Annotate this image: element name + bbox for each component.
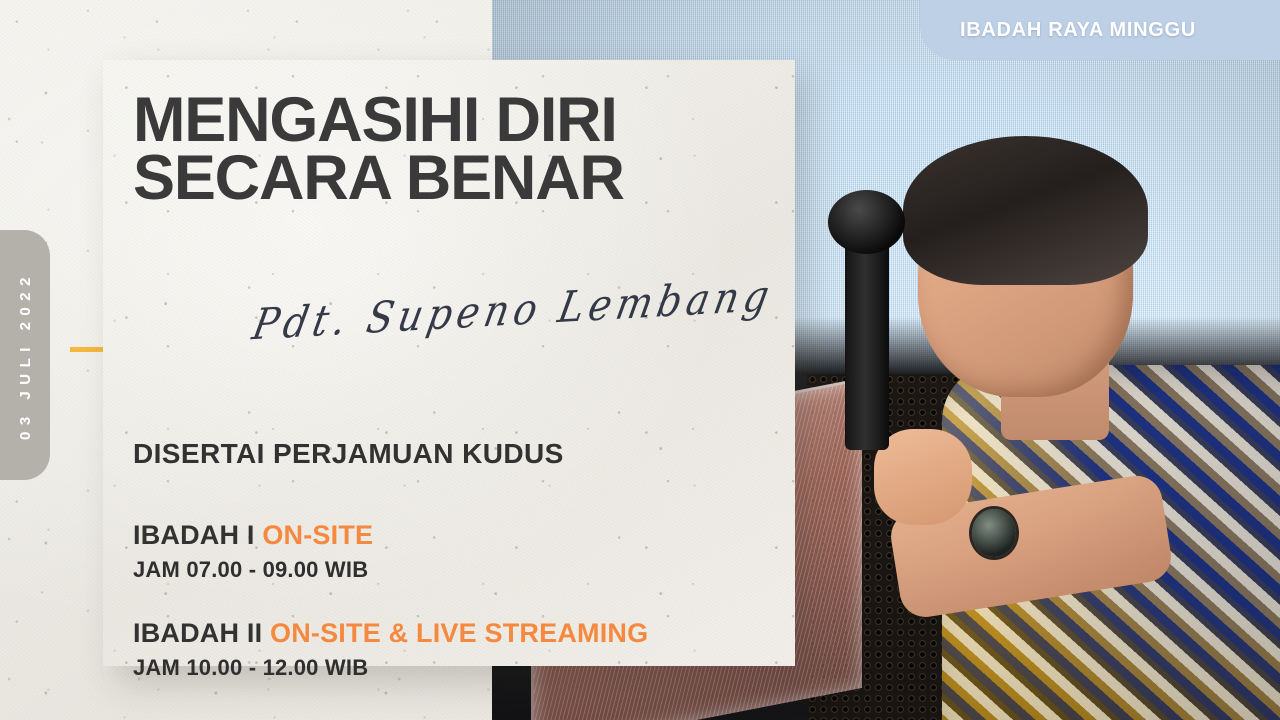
service-1-time: JAM 07.00 - 09.00 WIB: [133, 557, 373, 583]
service-2-mode: ON-SITE & LIVE STREAMING: [270, 618, 648, 648]
title-line-2: SECARA BENAR: [133, 150, 773, 208]
date-tab: 03 JULI 2022: [0, 230, 50, 480]
date-tab-label: 03 JULI 2022: [17, 271, 34, 440]
service-2-time: JAM 10.00 - 12.00 WIB: [133, 655, 648, 681]
poster-stage: IBADAH RAYA MINGGU MENGASIHI DIRI SECARA…: [0, 0, 1280, 720]
service-2-name: IBADAH II: [133, 618, 270, 648]
speaker-signature: Pdt. Supeno Lembang: [249, 271, 778, 350]
service-1-mode: ON-SITE: [262, 520, 373, 550]
subheading: DISERTAI PERJAMUAN KUDUS: [133, 438, 564, 470]
badge-label: IBADAH RAYA MINGGU: [960, 19, 1196, 42]
service-1-name: IBADAH I: [133, 520, 262, 550]
status-badge: IBADAH RAYA MINGGU: [920, 0, 1280, 60]
service-block-2: IBADAH II ON-SITE & LIVE STREAMING JAM 1…: [133, 618, 648, 681]
service-1-heading: IBADAH I ON-SITE: [133, 520, 373, 551]
content-card: MENGASIHI DIRI SECARA BENAR Pdt. Supeno …: [103, 60, 795, 666]
service-block-1: IBADAH I ON-SITE JAM 07.00 - 09.00 WIB: [133, 520, 373, 583]
orange-rule-divider: [70, 347, 104, 352]
page-title: MENGASIHI DIRI SECARA BENAR: [133, 92, 773, 208]
service-2-heading: IBADAH II ON-SITE & LIVE STREAMING: [133, 618, 648, 649]
